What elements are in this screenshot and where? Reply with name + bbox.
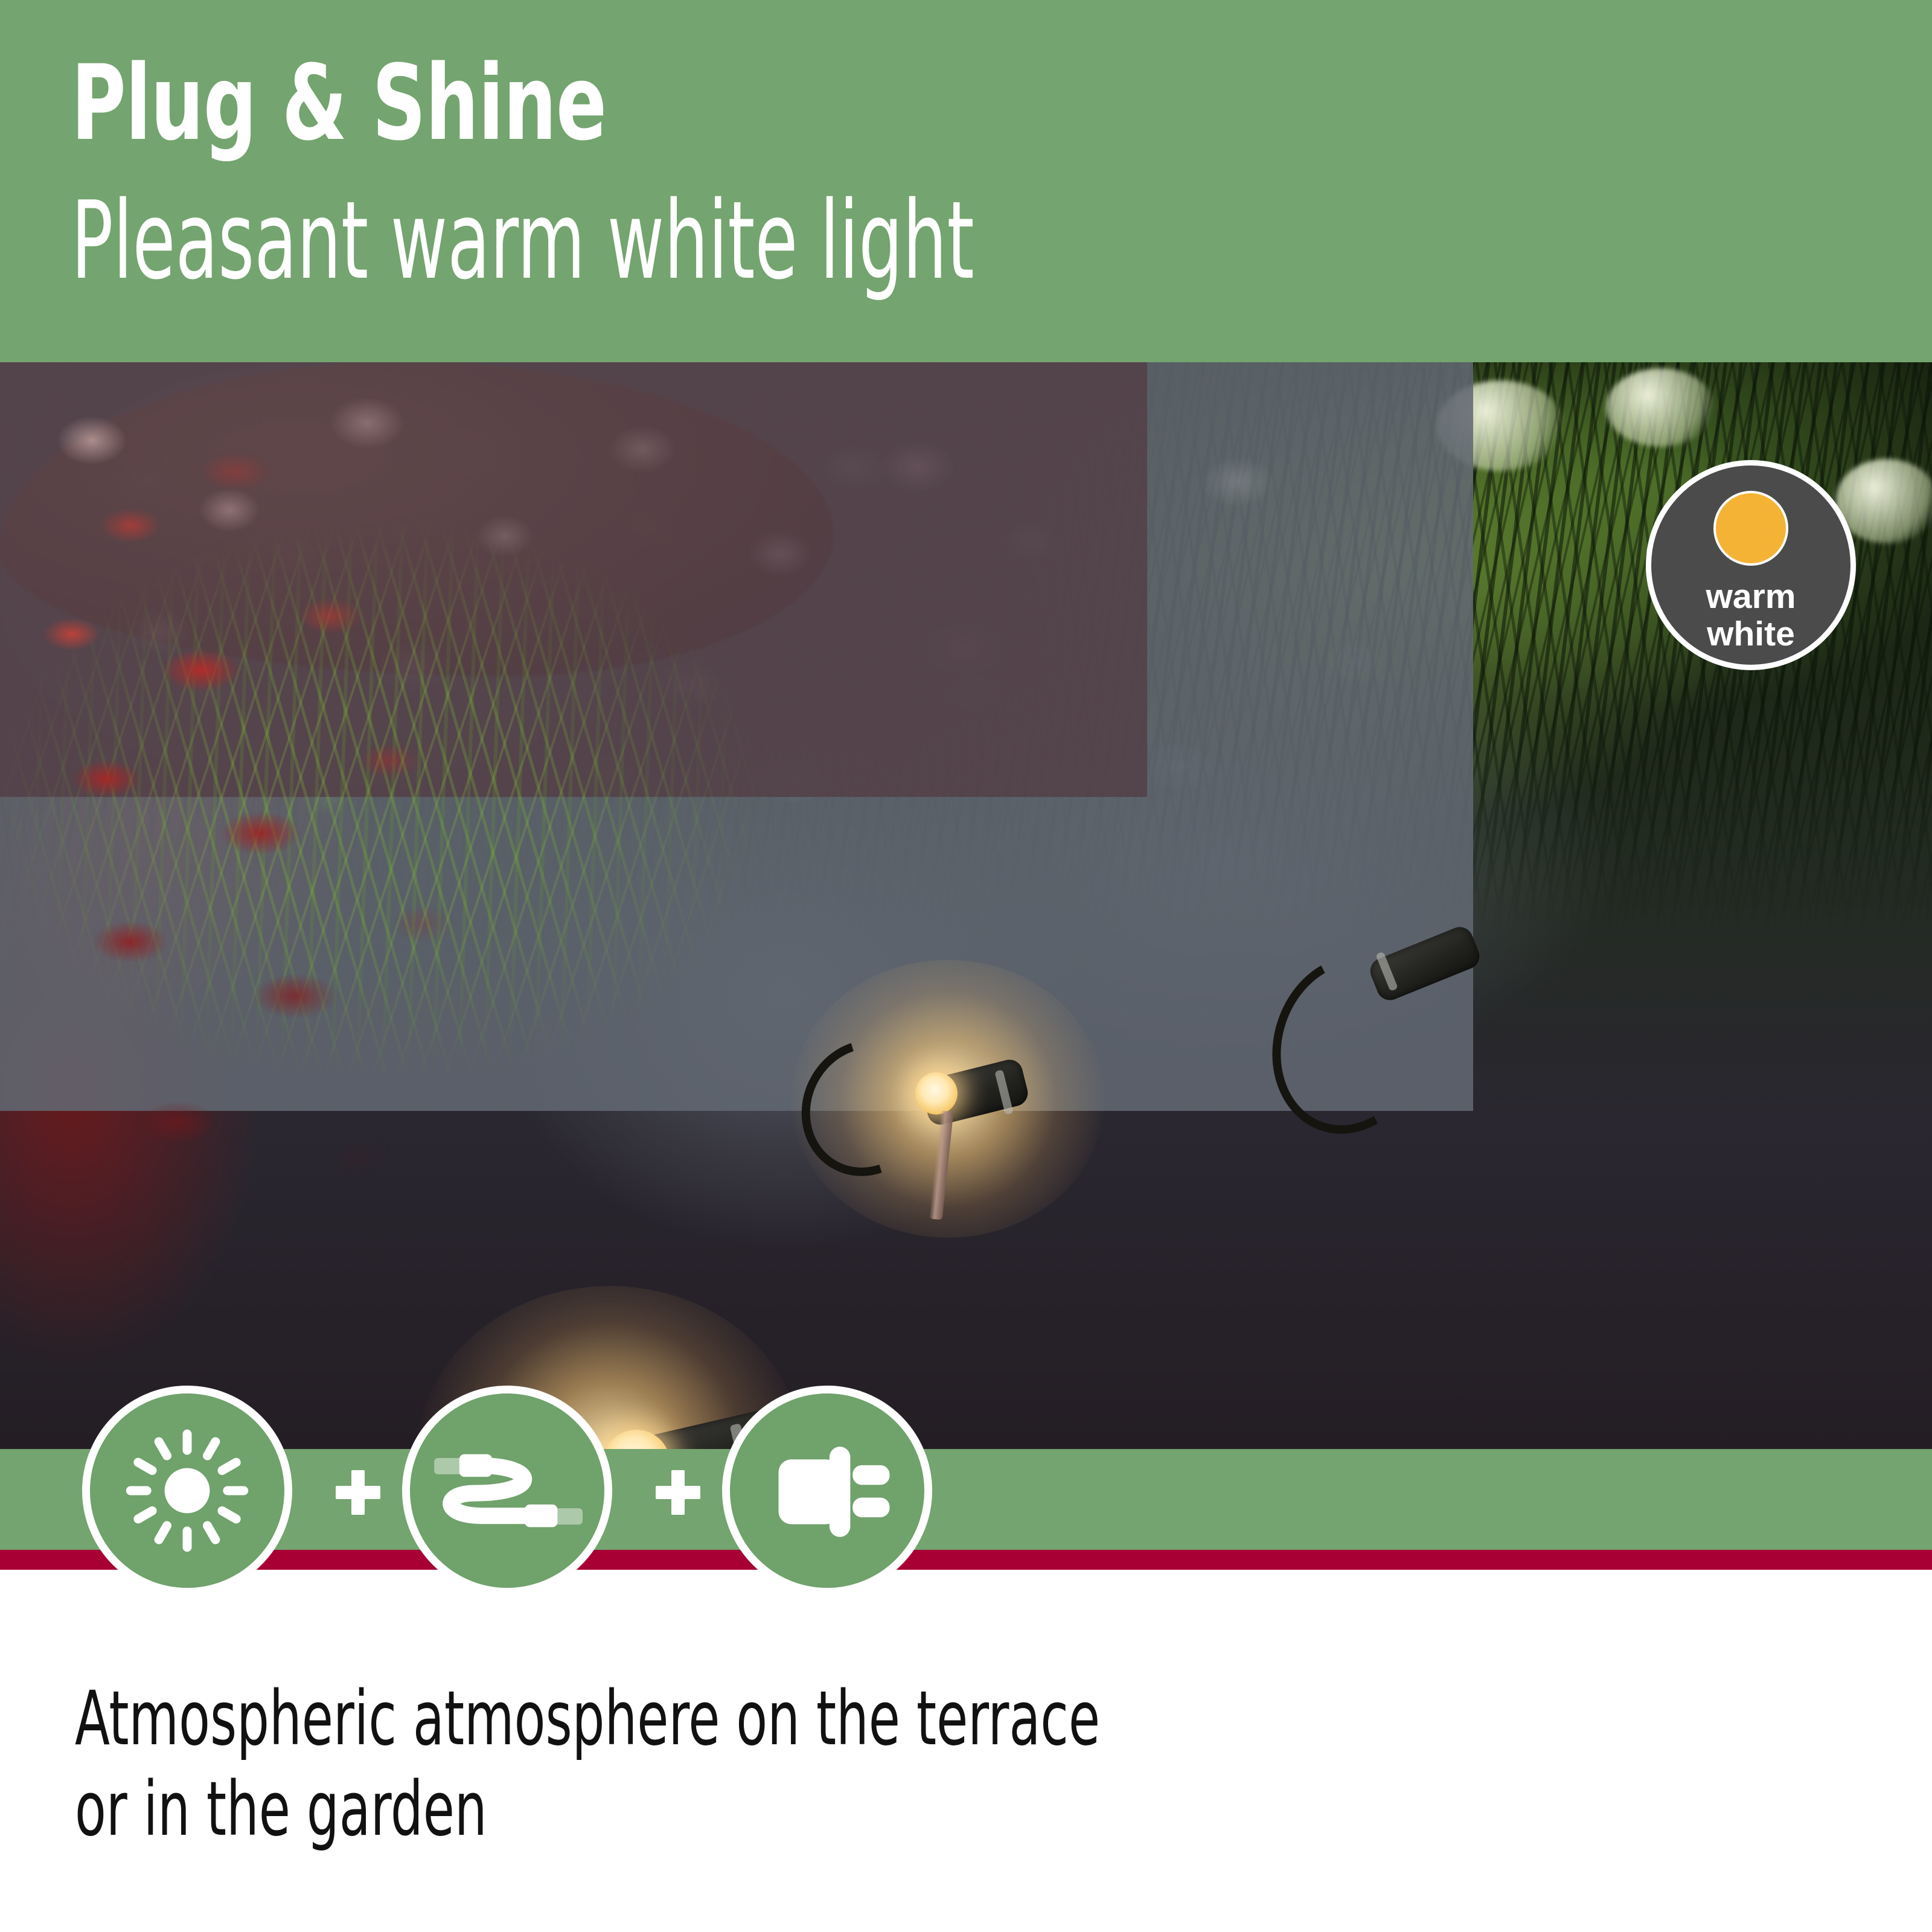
red-foliage-bush xyxy=(0,362,592,1268)
sun-light-icon xyxy=(121,1424,254,1557)
cable-connector-icon xyxy=(432,1415,583,1566)
garden-spotlight xyxy=(857,1014,1171,1244)
badge-label-line2: white xyxy=(1706,615,1796,653)
warm-white-badge: warm white xyxy=(1646,460,1856,670)
garden-spotlight xyxy=(1292,906,1570,1159)
feature-icon-cable[interactable] xyxy=(402,1386,612,1596)
feature-icon-plug[interactable] xyxy=(722,1386,932,1596)
header-subtitle: Pleasant warm white light xyxy=(71,185,974,297)
separator-plus-2 xyxy=(656,1470,700,1515)
power-plug-icon xyxy=(758,1421,897,1560)
warm-white-color-dot xyxy=(1713,491,1788,566)
feature-icon-row xyxy=(0,1386,1026,1615)
product-marketing-poster: Plug & Shine Pleasant warm white light xyxy=(0,0,1932,1932)
brand-title: Plug & Shine xyxy=(71,50,606,157)
feature-icon-light[interactable] xyxy=(82,1386,292,1596)
hydrangea-bloom xyxy=(1606,368,1715,447)
badge-label-line1: warm xyxy=(1706,578,1796,615)
garden-photo: warm white xyxy=(0,362,1932,1449)
caption-text: Atmospheric atmosphere on the terrace or… xyxy=(75,1674,1314,1855)
separator-plus-1 xyxy=(336,1470,380,1515)
header-banner: Plug & Shine Pleasant warm white light xyxy=(0,0,1932,362)
